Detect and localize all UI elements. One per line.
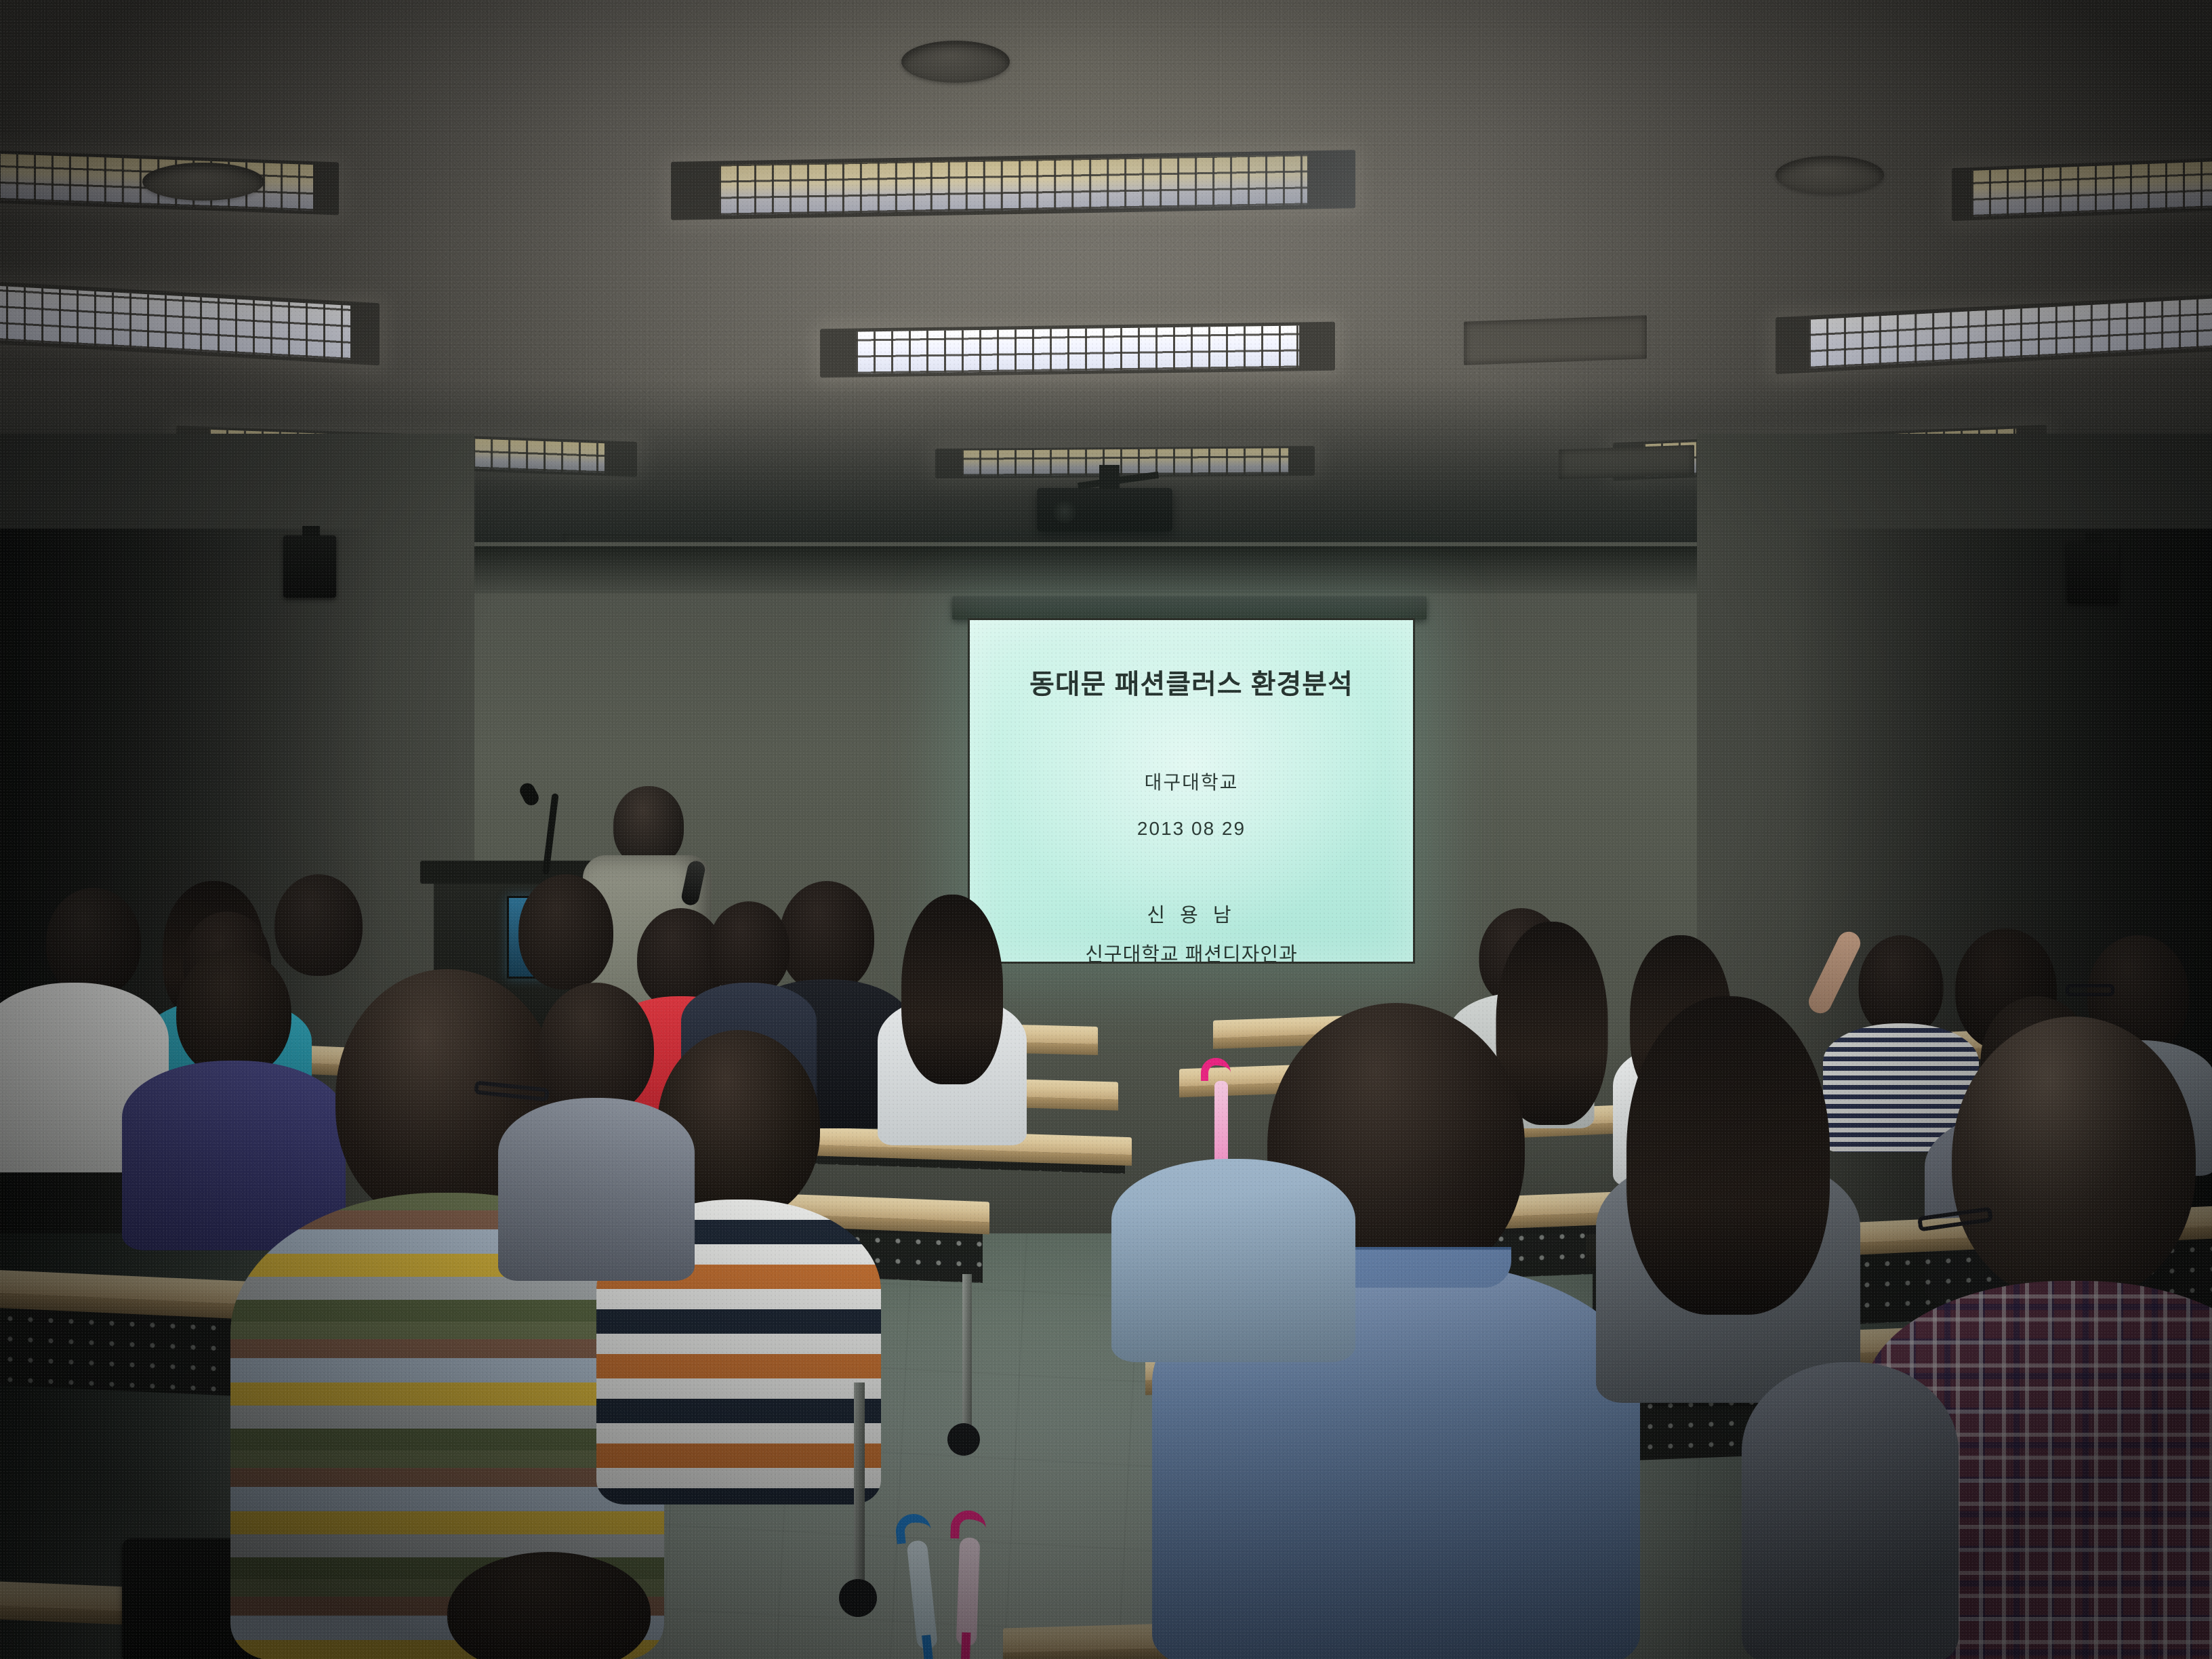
person-head — [447, 1552, 651, 1659]
audience-long-hair-white-top-person — [874, 895, 1030, 1125]
umbrella-handle — [950, 1510, 986, 1540]
audience-bottom-center-partial — [420, 1552, 678, 1659]
person-head — [708, 901, 790, 996]
projection-screen: 동대문 패션클러스 환경분석 대구대학교 2013 08 29 신 용 남 신구… — [968, 618, 1415, 964]
audience-light-blue-shirt-person — [1111, 1078, 1355, 1362]
umbrella-canopy — [906, 1540, 938, 1650]
desk-caster — [839, 1579, 877, 1617]
childrens-umbrella-pink — [946, 1510, 1032, 1655]
ceiling-air-diffuser-3 — [1776, 156, 1884, 194]
lecture-hall-photo: 동대문 패션클러스 환경분석 대구대학교 2013 08 29 신 용 남 신구… — [0, 0, 2212, 1659]
ceiling-vent-panel — [1464, 315, 1647, 365]
ceiling-light-3 — [671, 150, 1355, 220]
desk-caster-2 — [947, 1423, 980, 1456]
person-torso — [498, 1098, 695, 1281]
light-louver — [856, 325, 1299, 373]
umbrella-canopy — [956, 1537, 981, 1646]
ceiling-air-diffuser — [901, 41, 1010, 83]
speaker-bracket — [302, 526, 320, 537]
slide-presenter: 신 용 남 — [1147, 899, 1235, 928]
desk-leg-2 — [962, 1274, 972, 1430]
light-dim-half — [1040, 150, 1355, 213]
person-head — [539, 983, 654, 1115]
slide-title: 동대문 패션클러스 환경분석 — [1029, 662, 1353, 701]
glasses-icon — [2066, 984, 2114, 996]
light-louver — [1971, 162, 2212, 217]
umbrella-handle — [894, 1512, 932, 1544]
desk-leg — [854, 1382, 865, 1586]
person-head — [1952, 1017, 2196, 1301]
presenter-head — [613, 786, 684, 866]
audience-grey-tshirt-front-left — [495, 983, 698, 1267]
person-torso — [1742, 1362, 1959, 1659]
slide-affiliation-1: 신구대학교 패션디자인과 — [1085, 939, 1298, 964]
person-torso — [1111, 1159, 1355, 1362]
ceiling-light-4 — [820, 322, 1335, 378]
slide-date: 2013 08 29 — [1137, 818, 1246, 840]
projection-screen-valance — [952, 596, 1427, 619]
person-hair — [1626, 996, 1830, 1315]
speaker-bracket — [2085, 533, 2103, 544]
person-hair — [901, 895, 1003, 1084]
ceiling-air-diffuser-2 — [142, 163, 264, 201]
audience-bottom-left-partial — [1742, 1322, 1959, 1659]
slide-organization: 대구대학교 — [1145, 768, 1239, 795]
umbrella-tip — [961, 1633, 971, 1659]
wall-speaker-left — [283, 535, 336, 598]
wall-speaker-right — [2067, 542, 2118, 603]
ceiling-light-9 — [1952, 157, 2212, 221]
